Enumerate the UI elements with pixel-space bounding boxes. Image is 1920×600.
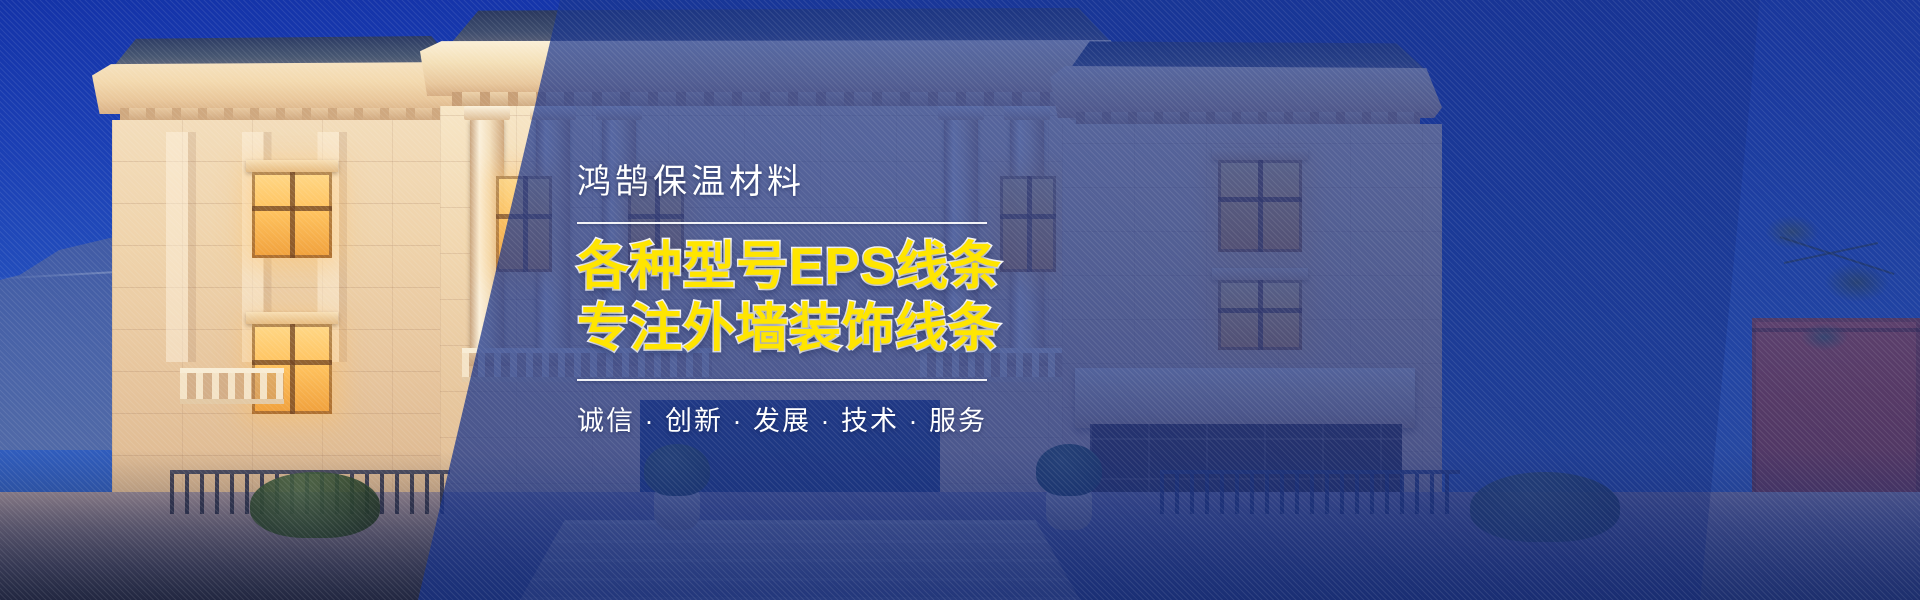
headline-line-2: 专注外墙装饰线条 xyxy=(577,300,1002,358)
garage-lintel xyxy=(1075,368,1415,428)
window-glow xyxy=(252,172,332,258)
headline-line-1: 各种型号EPS线条 xyxy=(577,238,1002,296)
window-hood xyxy=(246,312,338,324)
window-glow xyxy=(1218,280,1302,350)
balustrade xyxy=(180,368,284,404)
divider-bottom xyxy=(577,379,987,381)
tree-foliage xyxy=(1738,190,1918,400)
window-hood xyxy=(246,160,338,172)
tagline: 诚信 · 创新 · 发展 · 技术 · 服务 xyxy=(577,399,987,438)
headline-group: 各种型号EPS线条 专注外墙装饰线条 xyxy=(577,238,1002,358)
left-wing-cornice xyxy=(92,62,472,114)
company-name: 鸿鹄保温材料 xyxy=(577,162,805,203)
window-hood xyxy=(1212,268,1308,280)
hero-banner: 鸿鹄保温材料 各种型号EPS线条 专注外墙装饰线条 诚信 · 创新 · 发展 ·… xyxy=(0,0,1920,600)
divider-top xyxy=(577,222,987,224)
window-glow xyxy=(1218,160,1302,252)
banner-text-block: 鸿鹄保温材料 各种型号EPS线条 专注外墙装饰线条 诚信 · 创新 · 发展 ·… xyxy=(555,0,1115,600)
window-hood xyxy=(1212,148,1308,160)
window-glow xyxy=(496,176,552,272)
